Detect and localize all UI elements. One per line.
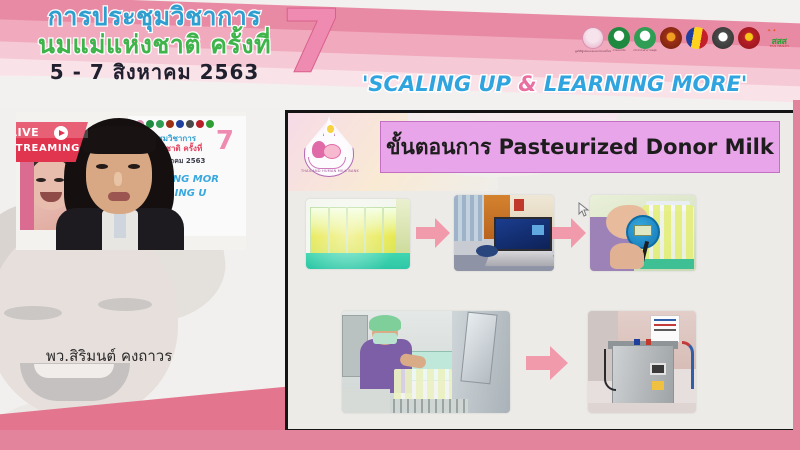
sss-sublabel: THAI HEALTH [764, 44, 794, 48]
photo-laptop-data-recording [454, 195, 554, 271]
play-icon [54, 126, 68, 140]
photo-milk-bottle-rack [306, 199, 410, 269]
thai-breastfeeding-foundation-logo: มูลนิธิศูนย์นมแม่แห่งประเทศไทย [582, 27, 604, 49]
thaihealth-sss-logo: ✦✦ สสส THAI HEALTH [764, 27, 794, 49]
arrow-2 [552, 217, 586, 249]
photo-nurse-loading-pasteurizer [342, 311, 510, 413]
page-right-pink-band [793, 100, 800, 440]
logo-ring-text: THAILAND HUMAN MILK BANK [296, 169, 364, 173]
royal-emblem-logo [686, 27, 708, 49]
photo-digital-timer-thermometer [590, 195, 696, 271]
tagline-prefix: 'SCALING UP [362, 72, 518, 96]
live-label: LIVE [16, 126, 39, 139]
medical-council-logo [738, 27, 760, 49]
conference-tagline: 'SCALING UP & LEARNING MORE' [362, 72, 790, 96]
conference-date-range: 5 - 7 สิงหาคม 2563 [22, 62, 287, 82]
mouse-pointer [578, 202, 590, 218]
slide-title-box: ขั้นตอนการ Pasteurized Donor Milk [380, 121, 780, 173]
presentation-slide: THAILAND HUMAN MILK BANK ขั้นตอนการ Past… [285, 110, 797, 432]
live-streaming-badge: LIVE STREAMING [16, 122, 88, 162]
speaker-name-caption: พว.สิริมนต์ คงถาวร [46, 344, 276, 368]
nursing-council-logo [712, 27, 734, 49]
milk-droplet-icon [327, 125, 334, 133]
poster-edition-number: 7 [216, 128, 234, 154]
royal-college-logo [660, 27, 682, 49]
page-bottom-pink-band [0, 430, 800, 450]
slide-title-text: ขั้นตอนการ Pasteurized Donor Milk [386, 131, 774, 164]
conference-title-line2: นมแม่แห่งชาติ ครั้งที่ [22, 32, 287, 58]
speaker-video-frame[interactable]: การประชุมวิชาการ นมแม่แห่งชาติ ครั้งที่ … [16, 112, 246, 250]
conference-header-banner: การประชุมวิชาการ นมแม่แห่งชาติ ครั้งที่ … [0, 0, 800, 110]
logo-label: กรมอนามัย [613, 49, 626, 53]
streaming-label: STREAMING [16, 143, 80, 154]
cradling-hands-icon [308, 157, 346, 169]
department-of-health-logo: กระทรวงสาธารณสุข [634, 27, 656, 49]
arrow-1 [416, 217, 450, 249]
arrow-3 [526, 345, 568, 381]
thailand-human-milk-bank-logo: THAILAND HUMAN MILK BANK [296, 117, 364, 183]
screenshot-root: การประชุมวิชาการ นมแม่แห่งชาติ ครั้งที่ … [0, 0, 800, 450]
tagline-suffix: LEARNING MORE' [537, 72, 748, 96]
conference-title-line1: การประชุมวิชาการ [22, 4, 287, 30]
tagline-ampersand: & [518, 72, 536, 96]
ministry-of-public-health-logo: กรมอนามัย [608, 27, 630, 49]
speaker-video-panel: การประชุมวิชาการ นมแม่แห่งชาติ ครั้งที่ … [0, 108, 286, 450]
logo-label: มูลนิธิศูนย์นมแม่แห่งประเทศไทย [575, 50, 611, 54]
organizer-logo-strip: มูลนิธิศูนย์นมแม่แห่งประเทศไทย กรมอนามัย… [582, 27, 794, 49]
photo-storage-freezer-unit [588, 311, 696, 413]
conference-title: การประชุมวิชาการ นมแม่แห่งชาติ ครั้งที่ … [22, 4, 287, 82]
conference-edition-number: 7 [282, 2, 342, 84]
logo-label: กระทรวงสาธารณสุข [633, 49, 656, 53]
